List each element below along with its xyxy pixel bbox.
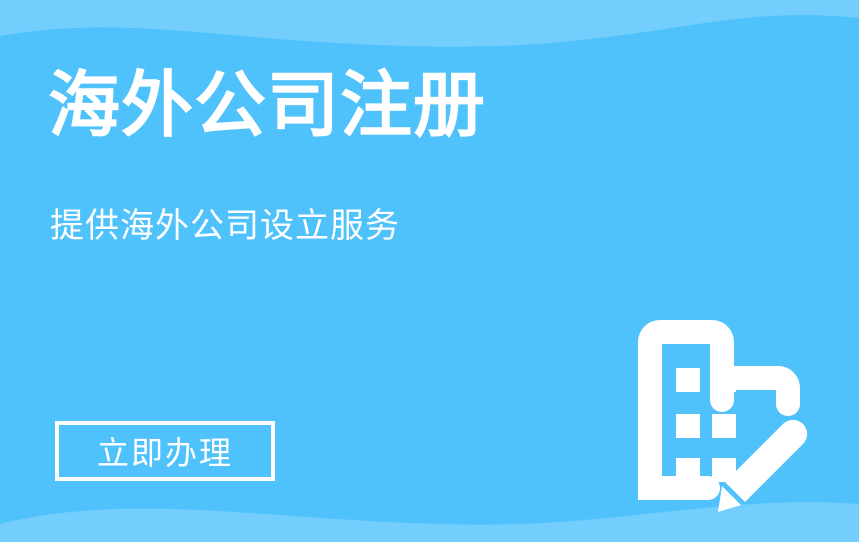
building-window: [676, 368, 700, 392]
banner-headline: 海外公司注册: [48, 66, 486, 147]
building-window: [712, 368, 736, 392]
overseas-company-registration-banner: 海外公司注册 提供海外公司设立服务 立即办理: [0, 0, 859, 542]
building-window: [712, 414, 736, 438]
building-window: [676, 414, 700, 438]
annex-shape: [734, 366, 800, 416]
top-wave-decoration: [0, 0, 859, 70]
apply-now-button[interactable]: 立即办理: [55, 421, 275, 481]
pencil-body-shape: [725, 420, 807, 502]
building-with-pencil-icon: [608, 300, 828, 520]
building-window: [676, 458, 700, 482]
banner-subheadline: 提供海外公司设立服务: [50, 206, 400, 247]
